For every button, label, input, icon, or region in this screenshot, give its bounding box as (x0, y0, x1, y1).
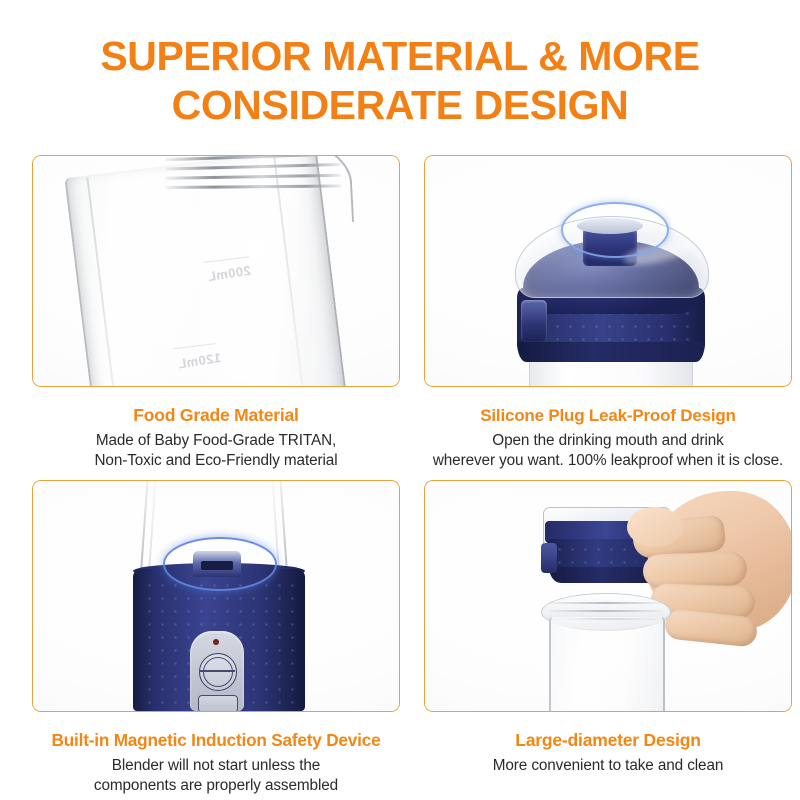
photo-frame-food-grade-material: 200mL 120mL (32, 155, 400, 387)
feature-body: Blender will not start unless the compon… (32, 756, 400, 796)
hand-holding-lid-illustration (425, 481, 791, 711)
product-photo-hand-and-bottle (425, 481, 791, 711)
feature-body: Open the drinking mouth and drink wherev… (424, 431, 792, 471)
feature-cell-magnetic-induction: Built-in Magnetic Induction Safety Devic… (32, 480, 400, 796)
feature-heading: Built-in Magnetic Induction Safety Devic… (32, 730, 400, 751)
feature-heading: Silicone Plug Leak-Proof Design (424, 405, 792, 426)
photo-frame-large-diameter (424, 480, 792, 712)
caption-food-grade-material: Food Grade Material Made of Baby Food-Gr… (32, 405, 400, 471)
feature-heading: Food Grade Material (32, 405, 400, 426)
lid-assembly-illustration (473, 182, 745, 387)
tritan-bottle-illustration: 200mL 120mL (44, 155, 364, 387)
caption-silicone-plug: Silicone Plug Leak-Proof Design Open the… (424, 405, 792, 471)
finger-middle (642, 551, 747, 589)
caption-magnetic-induction: Built-in Magnetic Induction Safety Devic… (32, 730, 400, 796)
bottle-screw-threads (164, 155, 341, 213)
power-button[interactable] (199, 653, 237, 691)
page-title-line-1: SUPERIOR MATERIAL & MORE (100, 33, 699, 79)
product-photo-clear-bottle: 200mL 120mL (33, 156, 399, 386)
photo-frame-silicone-plug (424, 155, 792, 387)
feature-body: Made of Baby Food-Grade TRITAN, Non-Toxi… (32, 431, 400, 471)
highlight-ring-magnetic-lug (163, 537, 277, 591)
lid-side-latch (541, 543, 557, 573)
secondary-button[interactable] (198, 695, 238, 712)
page-title: SUPERIOR MATERIAL & MORE CONSIDERATE DES… (0, 32, 800, 130)
feature-cell-large-diameter: Large-diameter Design More convenient to… (424, 480, 792, 776)
caption-large-diameter: Large-diameter Design More convenient to… (424, 730, 792, 776)
photo-frame-magnetic-induction (32, 480, 400, 712)
infographic-page: SUPERIOR MATERIAL & MORE CONSIDERATE DES… (0, 0, 800, 800)
lid-band-bottom (517, 342, 705, 362)
power-button-divider (199, 670, 235, 672)
product-photo-blender-base (33, 481, 399, 711)
feature-body: More convenient to take and clean (424, 756, 792, 776)
product-photo-lid-silicone-plug (425, 156, 791, 386)
wide-mouth-bottle (535, 593, 675, 711)
bottle-body (549, 617, 665, 712)
feature-cell-food-grade-material: 200mL 120mL Food Grade Material Made of … (32, 155, 400, 471)
lid-side-latch (521, 300, 547, 342)
blender-base-illustration (85, 481, 349, 711)
feature-grid: 200mL 120mL Food Grade Material Made of … (0, 155, 800, 800)
status-led-indicator (213, 639, 219, 645)
feature-heading: Large-diameter Design (424, 730, 792, 751)
feature-cell-silicone-plug: Silicone Plug Leak-Proof Design Open the… (424, 155, 792, 471)
page-title-line-2: CONSIDERATE DESIGN (0, 81, 800, 130)
thumb (627, 507, 683, 547)
highlight-ring-drinking-spout (561, 202, 669, 258)
